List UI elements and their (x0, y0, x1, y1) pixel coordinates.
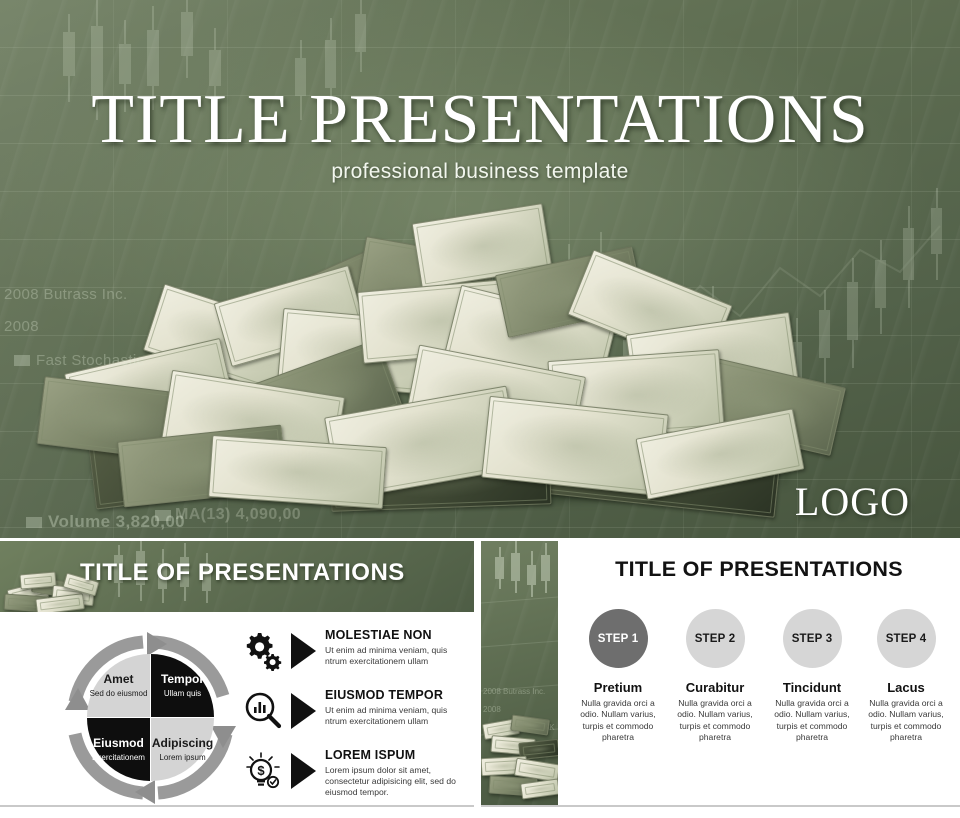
slide-thumbnails-row: TITLE OF PRESENTATIONS (0, 541, 960, 818)
logo-placeholder[interactable]: LOGO (795, 478, 910, 525)
cycle-label: Tempor (161, 673, 204, 686)
sidebar-money-thumb (481, 715, 558, 801)
arrow-right-icon (291, 693, 316, 729)
cycle-quadrant-adipiscing[interactable]: Adipiscing Lorem ipsum (151, 718, 214, 781)
cycle-label: Eiusmod (93, 737, 144, 750)
watermark-swatch-icon (14, 355, 30, 366)
step-name-4: Lacus (864, 680, 948, 695)
step-badge-4[interactable]: STEP 4 (877, 609, 936, 668)
hero-title: TITLE PRESENTATIONS (0, 80, 960, 160)
step-badge-1[interactable]: STEP 1 (589, 609, 648, 668)
slide-left-header-band: TITLE OF PRESENTATIONS (0, 541, 474, 612)
slide-right-title: TITLE OF PRESENTATIONS (558, 557, 960, 582)
watermark-moving-average: MA(13) 4,090,00 (175, 506, 301, 524)
slide-left-title: TITLE OF PRESENTATIONS (80, 559, 405, 587)
feature-item-molestiae[interactable]: MOLESTIAE NON Ut enim ad minima veniam, … (243, 629, 468, 681)
watermark-fast-stochastic: Fast Stochastic (36, 352, 145, 369)
step-column-2[interactable]: STEP 2 Curabitur Nulla gravida orci a od… (670, 609, 760, 743)
hero-slide[interactable]: 2008 Butrass Inc. 2008 Fast Stochastic V… (0, 0, 960, 538)
cycle-sublabel: Ullam quis (164, 689, 201, 698)
step-badge-3[interactable]: STEP 3 (783, 609, 842, 668)
step-name-3: Tincidunt (767, 680, 857, 695)
step-name-2: Curabitur (670, 680, 760, 695)
sidebar-watermark-company: 2008 Butrass Inc. (483, 687, 545, 696)
feature-body: Ut enim ad minima veniam, quis ntrum exe… (325, 645, 468, 668)
lightbulb-dollar-icon: $ (243, 751, 283, 791)
slide-steps[interactable]: 2008 Butrass Inc. 2008 Fast Stochastic: … (481, 541, 960, 807)
arrow-right-icon (291, 633, 316, 669)
feature-body: Lorem ipsum dolor sit amet, consectetur … (325, 765, 468, 799)
step-name-1: Pretium (573, 680, 663, 695)
slide-right-sidebar-band: 2008 Butrass Inc. 2008 Fast Stochastic: … (481, 541, 558, 807)
cycle-quadrant-eiusmod[interactable]: Eiusmod Exercitationem (87, 718, 150, 781)
cycle-diagram: Amet Sed do eiusmod Tempor Ullam quis Ei… (63, 630, 238, 806)
svg-text:$: $ (257, 763, 265, 778)
sidebar-watermark-year: 2008 (483, 705, 501, 714)
cycle-label: Adipiscing (152, 737, 213, 750)
cycle-sublabel: Sed do eiusmod (90, 689, 148, 698)
step-badge-2[interactable]: STEP 2 (686, 609, 745, 668)
step-column-4[interactable]: STEP 4 Lacus Nulla gravida orci a odio. … (864, 609, 948, 743)
feature-heading: EIUSMOD TEMPOR (325, 689, 468, 703)
hero-subtitle: professional business template (0, 160, 960, 184)
step-desc-3: Nulla gravida orci a odio. Nullam varius… (767, 698, 857, 743)
cycle-sublabel: Lorem ipsum (159, 753, 205, 762)
feature-heading: MOLESTIAE NON (325, 629, 468, 643)
watermark-swatch-ma-icon (155, 510, 171, 521)
cycle-sublabel: Exercitationem (92, 753, 145, 762)
watermark-year: 2008 (4, 318, 39, 335)
arrow-right-icon (291, 753, 316, 789)
step-column-1[interactable]: STEP 1 Pretium Nulla gravida orci a odio… (573, 609, 663, 743)
cycle-label: Amet (103, 673, 133, 686)
money-pile-image (30, 205, 820, 505)
watermark-company: 2008 Butrass Inc. (4, 286, 128, 303)
magnifier-chart-icon (243, 691, 283, 731)
watermark-swatch-volume-icon (26, 517, 42, 528)
gears-icon (243, 631, 283, 671)
step-desc-2: Nulla gravida orci a odio. Nullam varius… (670, 698, 760, 743)
feature-item-eiusmod[interactable]: EIUSMOD TEMPOR Ut enim ad minima veniam,… (243, 689, 468, 741)
feature-item-lorem[interactable]: $ LOREM ISPUM Lorem ipsum dolor sit amet… (243, 749, 468, 801)
step-column-3[interactable]: STEP 3 Tincidunt Nulla gravida orci a od… (767, 609, 857, 743)
cycle-quadrant-amet[interactable]: Amet Sed do eiusmod (87, 654, 150, 717)
slide-cycle-diagram[interactable]: TITLE OF PRESENTATIONS (0, 541, 474, 807)
cycle-quadrant-tempor[interactable]: Tempor Ullam quis (151, 654, 214, 717)
feature-list: MOLESTIAE NON Ut enim ad minima veniam, … (243, 629, 468, 807)
step-desc-4: Nulla gravida orci a odio. Nullam varius… (864, 698, 948, 743)
feature-heading: LOREM ISPUM (325, 749, 468, 763)
step-desc-1: Nulla gravida orci a odio. Nullam varius… (573, 698, 663, 743)
feature-body: Ut enim ad minima veniam, quis ntrum exe… (325, 705, 468, 728)
